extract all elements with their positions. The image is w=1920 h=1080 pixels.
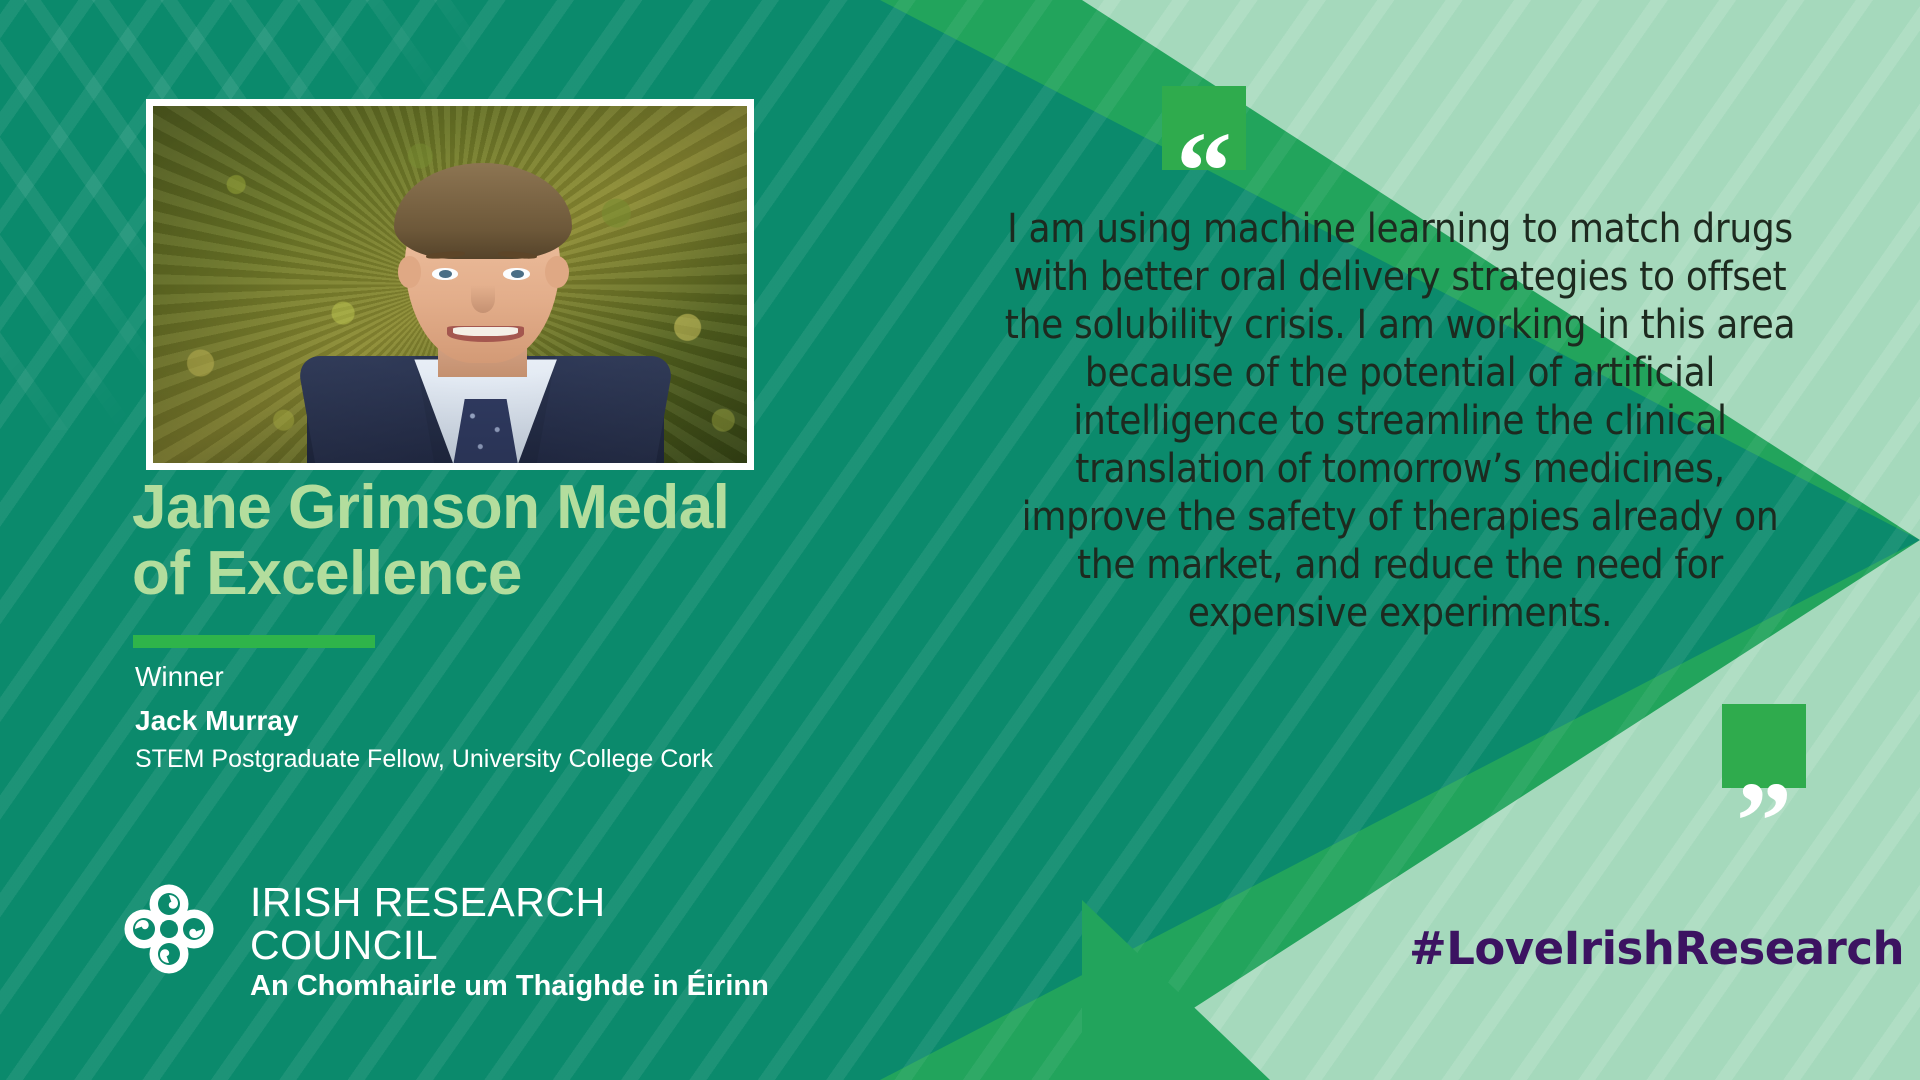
celtic-knot-icon xyxy=(110,877,228,993)
winner-label: Winner xyxy=(135,661,224,693)
quote-close-glyph: ” xyxy=(1736,760,1792,884)
award-title-line-1: Jane Grimson Medal xyxy=(132,475,852,541)
campaign-hashtag: #LoveIrishResearch xyxy=(1409,922,1904,975)
logo-name-english: IRISH RESEARCH COUNCIL xyxy=(250,881,770,968)
award-announcement-card: Jane Grimson Medal of Excellence Winner … xyxy=(0,0,1920,1080)
winner-name: Jack Murray xyxy=(135,705,298,737)
winner-photo-frame xyxy=(146,99,754,470)
logo-name-irish: An Chomhairle um Thaighde in Éirinn xyxy=(250,970,770,1003)
logo-wordmark: IRISH RESEARCH COUNCIL An Chomhairle um … xyxy=(250,881,770,1003)
award-title: Jane Grimson Medal of Excellence xyxy=(132,475,852,606)
quote-text: I am using machine learning to match dru… xyxy=(1000,205,1800,637)
quote-open-icon: “ xyxy=(1162,86,1246,170)
title-underline-rule xyxy=(133,635,375,648)
photo-vignette xyxy=(153,106,747,463)
quote-close-icon: ” xyxy=(1722,704,1806,788)
irish-research-council-logo: IRISH RESEARCH COUNCIL An Chomhairle um … xyxy=(110,875,770,995)
award-title-line-2: of Excellence xyxy=(132,541,852,607)
winner-role: STEM Postgraduate Fellow, University Col… xyxy=(135,745,713,774)
winner-photo xyxy=(153,106,747,463)
